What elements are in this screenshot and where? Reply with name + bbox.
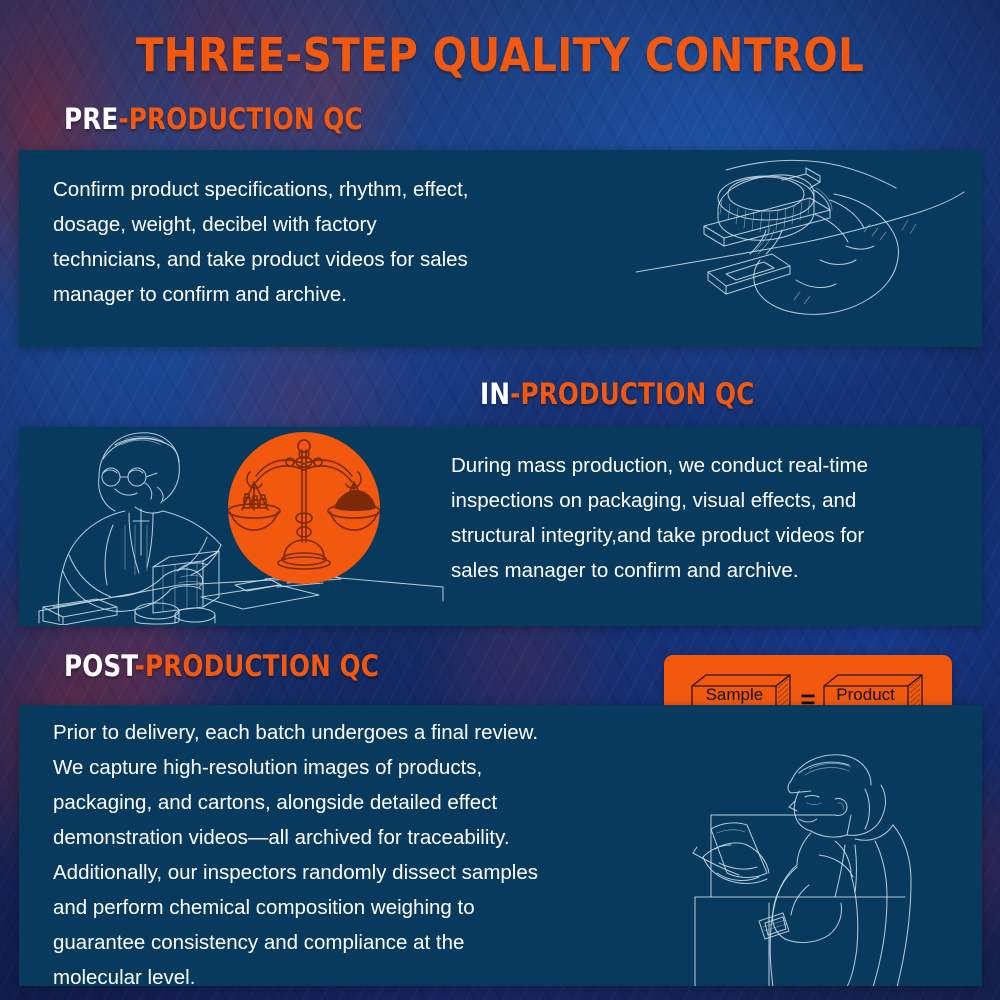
page-title: THREE-STEP QUALITY CONTROL bbox=[60, 32, 940, 78]
step-heading-post-orange: -PRODUCTION QC bbox=[135, 649, 379, 683]
step-heading-pre-orange: -PRODUCTION QC bbox=[118, 102, 362, 136]
step-heading-in-orange: -PRODUCTION QC bbox=[510, 377, 754, 411]
balance-scale-icon bbox=[228, 432, 380, 584]
panel-in-production-body: During mass production, we conduct real-… bbox=[451, 448, 971, 588]
hand-holding-component-icon bbox=[634, 154, 982, 344]
step-heading-post-white: POST bbox=[64, 649, 135, 683]
step-heading-post-production: POST-PRODUCTION QC bbox=[64, 652, 379, 681]
product-cube-label: Product bbox=[822, 685, 910, 705]
step-heading-pre-production: PRE-PRODUCTION QC bbox=[64, 105, 363, 134]
panel-post-production: Prior to delivery, each batch undergoes … bbox=[19, 705, 982, 986]
step-heading-in-white: IN bbox=[480, 377, 510, 411]
infographic-poster: THREE-STEP QUALITY CONTROL PRE-PRODUCTIO… bbox=[0, 0, 1000, 1000]
step-heading-pre-white: PRE bbox=[64, 102, 118, 136]
panel-pre-production-body: Confirm product specifications, rhythm, … bbox=[53, 172, 613, 312]
inspector-with-clipboard-icon bbox=[659, 745, 982, 986]
sample-cube-label: Sample bbox=[690, 685, 778, 705]
step-heading-in-production: IN-PRODUCTION QC bbox=[480, 380, 755, 409]
panel-in-production: During mass production, we conduct real-… bbox=[19, 427, 982, 626]
panel-post-production-body: Prior to delivery, each batch undergoes … bbox=[53, 715, 673, 986]
panel-pre-production: Confirm product specifications, rhythm, … bbox=[19, 150, 982, 347]
